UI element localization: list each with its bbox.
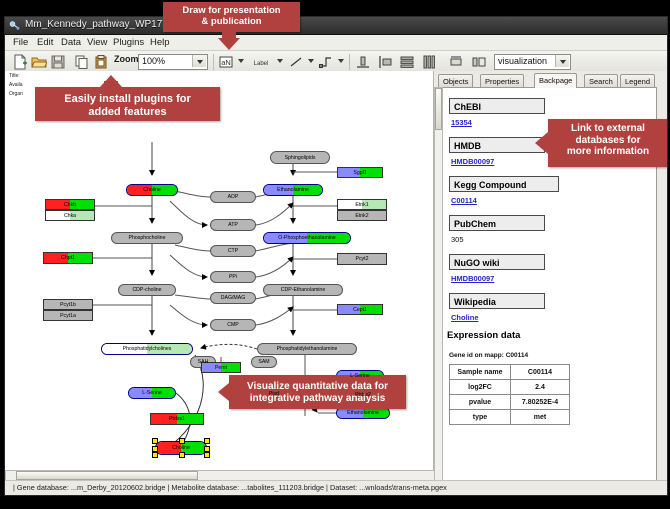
label-icon[interactable]: Label <box>248 54 274 70</box>
node-label: Chkb <box>64 202 76 208</box>
gene-chka[interactable]: Chka <box>45 210 95 221</box>
canvas-scrollbar-thumb[interactable] <box>16 471 198 480</box>
datanode-chevron-down-icon[interactable] <box>238 59 244 63</box>
callout-visualize-line1: Visualize quantitative data for <box>229 381 406 393</box>
db-link-hmdb[interactable]: HMDB00097 <box>451 157 494 166</box>
connector-icon[interactable] <box>318 54 334 70</box>
selection-handle[interactable] <box>152 452 158 458</box>
node-label: Etnk1 <box>355 202 368 208</box>
node-label: ATP <box>228 222 238 228</box>
menu-data[interactable]: Data <box>61 37 81 48</box>
visualization-value: visualization <box>498 56 547 66</box>
pathway-canvas[interactable]: Title: Availa Organ <box>5 71 434 493</box>
db-header-kegg: Kegg Compound <box>449 176 559 192</box>
tab-objects[interactable]: Objects <box>438 74 473 88</box>
gene-ptdss1[interactable]: Ptdss1 <box>150 413 204 425</box>
callout-draw: Draw for presentation & publication <box>163 2 300 32</box>
db-header-nugo: NuGO wiki <box>449 254 545 270</box>
node-label: PPi <box>229 274 237 280</box>
menu-edit[interactable]: Edit <box>37 37 53 48</box>
node-label: Phosphatidylcholines <box>123 346 172 352</box>
node-label: Pcyt2 <box>356 256 369 262</box>
metabolite-sphingolipids[interactable]: Sphingolipids <box>270 151 330 164</box>
gene-etnk1[interactable]: Etnk1 <box>337 199 387 210</box>
side-panel: Objects Properties Backpage Search Legen… <box>434 71 667 493</box>
cofactor-adp[interactable]: ADP <box>210 191 256 203</box>
panel-tabs: Objects Properties Backpage Search Legen… <box>438 73 665 87</box>
node-label: Chka <box>64 213 76 219</box>
db-header-wikipedia: Wikipedia <box>449 293 545 309</box>
callout-links-line2: databases for <box>548 135 668 147</box>
gene-chkb[interactable]: Chkb <box>45 199 95 210</box>
expr-key-type: type <box>450 410 511 425</box>
gene-cept1[interactable]: Cept1 <box>337 304 383 315</box>
open-folder-icon[interactable] <box>31 54 47 70</box>
panel-scrollbar-vertical[interactable] <box>434 87 443 485</box>
gene-pcyt1a[interactable]: Pcyt1a <box>43 310 93 321</box>
callout-links-line1: Link to external <box>548 123 668 135</box>
status-bar: | Gene database: ...m_Derby_20120602.bri… <box>5 480 667 495</box>
metabolite-sam[interactable]: SAM <box>251 356 277 368</box>
node-label: SAM <box>258 359 269 365</box>
menu-view[interactable]: View <box>87 37 107 48</box>
visualization-chevron-down-icon[interactable] <box>555 55 569 67</box>
callout-plugins-line1: Easily install plugins for <box>35 93 220 106</box>
save-icon[interactable] <box>50 54 66 70</box>
application-window: Mm_Kennedy_pathway_WP1771_45176.gpml Fil… <box>4 16 668 496</box>
pathway-drawing[interactable]: Title: Availa Organ <box>5 71 433 493</box>
node-label: Pemt <box>215 365 227 371</box>
zoom-chevron-down-icon[interactable] <box>192 55 206 67</box>
selection-handle[interactable] <box>179 438 185 444</box>
callout-visualize-line2: integrative pathway analysis <box>229 393 406 405</box>
callout-links-arrow <box>535 132 548 154</box>
callout-plugins-stem <box>104 81 118 89</box>
align-top-icon[interactable] <box>355 54 371 70</box>
order-icon[interactable] <box>471 54 487 70</box>
db-link-nugo[interactable]: HMDB00097 <box>451 274 494 283</box>
node-label: Sgpl1 <box>353 170 366 176</box>
expr-key-sample: Sample name <box>450 365 511 380</box>
svg-text:aN: aN <box>221 58 231 67</box>
menu-bar: File Edit Data View Plugins Help <box>5 35 667 51</box>
node-label: CTP <box>228 248 238 254</box>
gene-etnk2[interactable]: Etnk2 <box>337 210 387 221</box>
tab-backpage[interactable]: Backpage <box>534 73 577 88</box>
node-label: CMP <box>227 322 239 328</box>
table-row: Sample name C00114 <box>450 365 570 380</box>
db-link-kegg[interactable]: C00114 <box>451 196 477 205</box>
node-label: Chpt1 <box>61 255 75 261</box>
table-row: log2FC 2.4 <box>450 380 570 395</box>
metabolite-phosphocholine[interactable]: Phosphocholine <box>111 232 183 244</box>
expression-table: Sample name C00114 log2FC 2.4 pvalue 7.8… <box>449 364 570 425</box>
db-link-chebi[interactable]: 15354 <box>451 118 472 127</box>
expr-val-pvalue: 7.80252E-4 <box>511 395 570 410</box>
zoom-combo[interactable]: 100% <box>138 54 208 70</box>
gene-id-line: Gene id on mapp: C00114 <box>449 352 528 359</box>
expr-val-type: met <box>511 410 570 425</box>
node-label: DAG/MAG <box>221 295 246 301</box>
selection-handle[interactable] <box>204 452 210 458</box>
node-label: Cept1 <box>353 307 367 313</box>
cofactor-cmp[interactable]: CMP <box>210 319 256 331</box>
metabolite-l-serine[interactable]: L-Serine <box>128 387 176 399</box>
db-header-hmdb: HMDB <box>449 137 545 153</box>
distribute-horizontal-icon[interactable] <box>421 54 437 70</box>
node-label: Ethanolamine <box>347 410 379 416</box>
node-label: Pcyt1b <box>60 302 76 308</box>
selection-handle[interactable] <box>179 452 185 458</box>
metabolite-choline[interactable]: Choline <box>126 184 178 196</box>
new-file-icon[interactable] <box>12 54 28 70</box>
node-label: Pisd <box>269 391 279 397</box>
visualization-combo[interactable]: visualization <box>494 54 571 70</box>
panel-scrollbar-thumb[interactable] <box>435 88 442 130</box>
metabolite-o-phosphoethanolamine[interactable]: O-Phosphoethanolamine <box>263 232 351 244</box>
node-label: Pcyt1a <box>60 313 76 319</box>
callout-visualize: Visualize quantitative data for integrat… <box>229 375 406 409</box>
gene-pcyt2[interactable]: Pcyt2 <box>337 253 387 265</box>
selection-handle[interactable] <box>152 438 158 444</box>
screenshot-root: Mm_Kennedy_pathway_WP1771_45176.gpml Fil… <box>0 0 670 509</box>
menu-help[interactable]: Help <box>150 37 170 48</box>
metabolite-ethanolamine[interactable]: Ethanolamine <box>263 184 323 196</box>
expr-key-pvalue: pvalue <box>450 395 511 410</box>
db-header-pubchem: PubChem <box>449 215 545 231</box>
node-label: O-Phosphoethanolamine <box>278 235 335 241</box>
menu-plugins[interactable]: Plugins <box>113 37 144 48</box>
gene-sgpl1[interactable]: Sgpl1 <box>337 167 383 178</box>
svg-text:Label: Label <box>254 61 269 67</box>
selection-handle[interactable] <box>204 438 210 444</box>
node-label: L-Serine <box>350 373 370 379</box>
db-text-pubchem: 305 <box>451 235 464 244</box>
group-icon[interactable] <box>448 54 464 70</box>
node-label: CDP-choline <box>132 287 161 293</box>
node-label: Phosphocholine <box>129 235 166 241</box>
callout-links-line3: more information <box>548 146 668 158</box>
callout-visualize-arrow <box>218 383 229 401</box>
node-label: ADP <box>228 194 239 200</box>
tab-search[interactable]: Search <box>584 74 618 88</box>
node-label: Choline <box>143 187 161 193</box>
datanode-icon[interactable]: aN <box>218 54 234 70</box>
node-label: Ptdss2 <box>355 392 371 398</box>
menu-file[interactable]: File <box>13 37 28 48</box>
table-row: pvalue 7.80252E-4 <box>450 395 570 410</box>
callout-draw-arrow <box>218 38 240 50</box>
table-row: type met <box>450 410 570 425</box>
node-label: Phosphatidylethanolamine <box>277 346 338 352</box>
node-label: Ethanolamine <box>277 187 309 193</box>
line-chevron-down-icon[interactable] <box>308 59 314 63</box>
gene-pcyt1b[interactable]: Pcyt1b <box>43 299 93 310</box>
node-label: SAH <box>198 359 209 365</box>
paste-icon[interactable] <box>93 54 109 70</box>
callout-plugins: Easily install plugins for added feature… <box>35 87 220 121</box>
expr-key-log2fc: log2FC <box>450 380 511 395</box>
node-label: L-Serine <box>142 390 162 396</box>
db-link-wikipedia[interactable]: Choline <box>451 313 479 322</box>
cofactor-atp[interactable]: ATP <box>210 219 256 231</box>
status-text: | Gene database: ...m_Derby_20120602.bri… <box>13 483 447 492</box>
title-bar: Mm_Kennedy_pathway_WP1771_45176.gpml <box>5 17 667 35</box>
callout-draw-line2: & publication <box>163 17 300 28</box>
cofactor-ctp[interactable]: CTP <box>210 245 256 257</box>
expr-val-sample: C00114 <box>511 365 570 380</box>
metabolite-phosphatidylcholines[interactable]: Phosphatidylcholines <box>101 343 193 355</box>
callout-plugins-line2: added features <box>35 106 220 119</box>
metabolite-phosphatidylethanolamine[interactable]: Phosphatidylethanolamine <box>257 343 357 355</box>
gene-chpt1[interactable]: Chpt1 <box>43 252 93 264</box>
tab-legend[interactable]: Legend <box>620 74 655 88</box>
db-header-chebi: ChEBI <box>449 98 545 114</box>
cofactor-dag-mag[interactable]: DAG/MAG <box>210 292 256 304</box>
callout-links: Link to external databases for more info… <box>548 119 668 167</box>
tab-properties[interactable]: Properties <box>480 74 524 88</box>
node-label: Ptdss1 <box>169 416 185 422</box>
node-label: Choline <box>172 445 190 451</box>
copy-icon[interactable] <box>74 54 90 70</box>
node-label: Etnk2 <box>355 213 368 219</box>
metabolite-cdp-choline[interactable]: CDP-choline <box>118 284 176 296</box>
zoom-value: 100% <box>142 56 165 66</box>
metabolite-cdp-ethanolamine[interactable]: CDP-Ethanolamine <box>263 284 343 296</box>
distribute-vertical-icon[interactable] <box>399 54 415 70</box>
label-chevron-down-icon[interactable] <box>277 59 283 63</box>
align-left-icon[interactable] <box>377 54 393 70</box>
node-label: CDP-Ethanolamine <box>281 287 325 293</box>
pathvisio-icon <box>9 20 20 31</box>
line-icon[interactable] <box>288 54 304 70</box>
cofactor-ppi[interactable]: PPi <box>210 271 256 283</box>
node-label: Sphingolipids <box>285 155 316 161</box>
expr-val-log2fc: 2.4 <box>511 380 570 395</box>
expression-data-title: Expression data <box>447 330 520 341</box>
connector-chevron-down-icon[interactable] <box>338 59 344 63</box>
